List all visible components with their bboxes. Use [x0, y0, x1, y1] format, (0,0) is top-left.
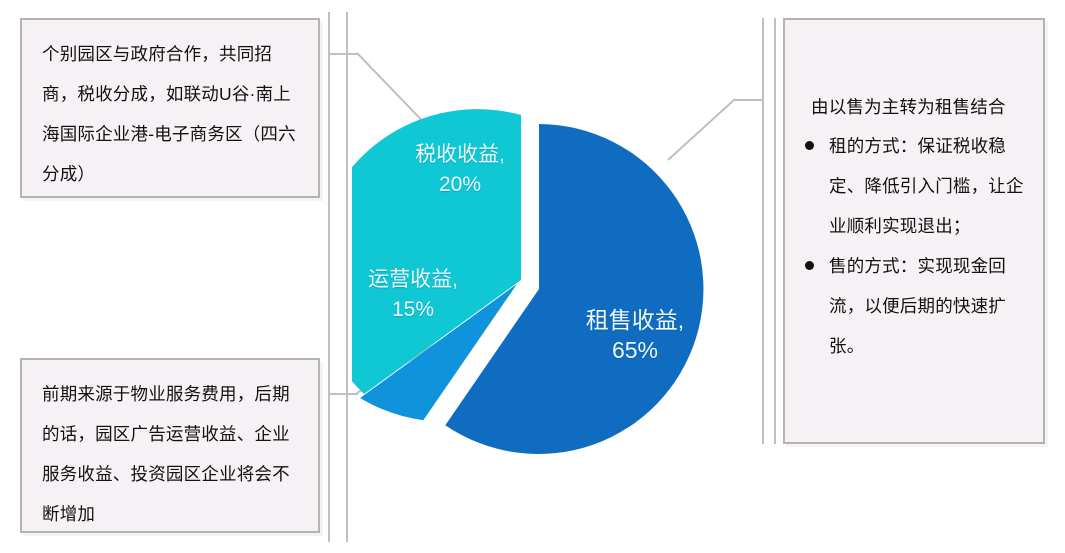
connector-vertical-left-2 — [346, 12, 348, 542]
slide-canvas: 租售收益, 65% 税收收益, 20% 运营收益, 15% 个别园区与政府合作，… — [0, 0, 1065, 553]
callout-right[interactable]: 由以售为主转为租售结合 租的方式：保证税收稳定、降低引入门槛，让企业顺利实现退出… — [783, 18, 1045, 444]
bullet-icon — [805, 261, 814, 270]
pie-svg — [352, 100, 722, 480]
list-item: 售的方式：实现现金回流，以便后期的快速扩张。 — [801, 246, 1029, 366]
callout-right-list: 租的方式：保证税收稳定、降低引入门槛，让企业顺利实现退出； 售的方式：实现现金回… — [801, 126, 1029, 366]
list-item-text: 售的方式：实现现金回流，以便后期的快速扩张。 — [829, 256, 1006, 356]
connector-vertical-right-2 — [774, 18, 776, 444]
callout-top-left-text: 个别园区与政府合作，共同招商，税收分成，如联动U谷·南上海国际企业港-电子商务区… — [22, 20, 318, 206]
connector-vertical-left — [328, 12, 330, 542]
pie-chart — [352, 100, 722, 480]
callout-right-heading: 由以售为主转为租售结合 — [801, 90, 1029, 124]
list-item-text: 租的方式：保证税收稳定、降低引入门槛，让企业顺利实现退出； — [829, 136, 1024, 236]
callout-bottom-left[interactable]: 前期来源于物业服务费用，后期的话，园区广告运营收益、企业服务收益、投资园区企业将… — [20, 358, 320, 533]
list-item: 租的方式：保证税收稳定、降低引入门槛，让企业顺利实现退出； — [801, 126, 1029, 246]
connector-stub-right — [735, 99, 764, 101]
connector-stub-top-left — [328, 53, 358, 55]
connector-vertical-right — [762, 18, 764, 444]
callout-top-left[interactable]: 个别园区与政府合作，共同招商，税收分成，如联动U谷·南上海国际企业港-电子商务区… — [20, 18, 320, 198]
callout-bottom-left-text: 前期来源于物业服务费用，后期的话，园区广告运营收益、企业服务收益、投资园区企业将… — [22, 360, 318, 546]
bullet-icon — [805, 141, 814, 150]
